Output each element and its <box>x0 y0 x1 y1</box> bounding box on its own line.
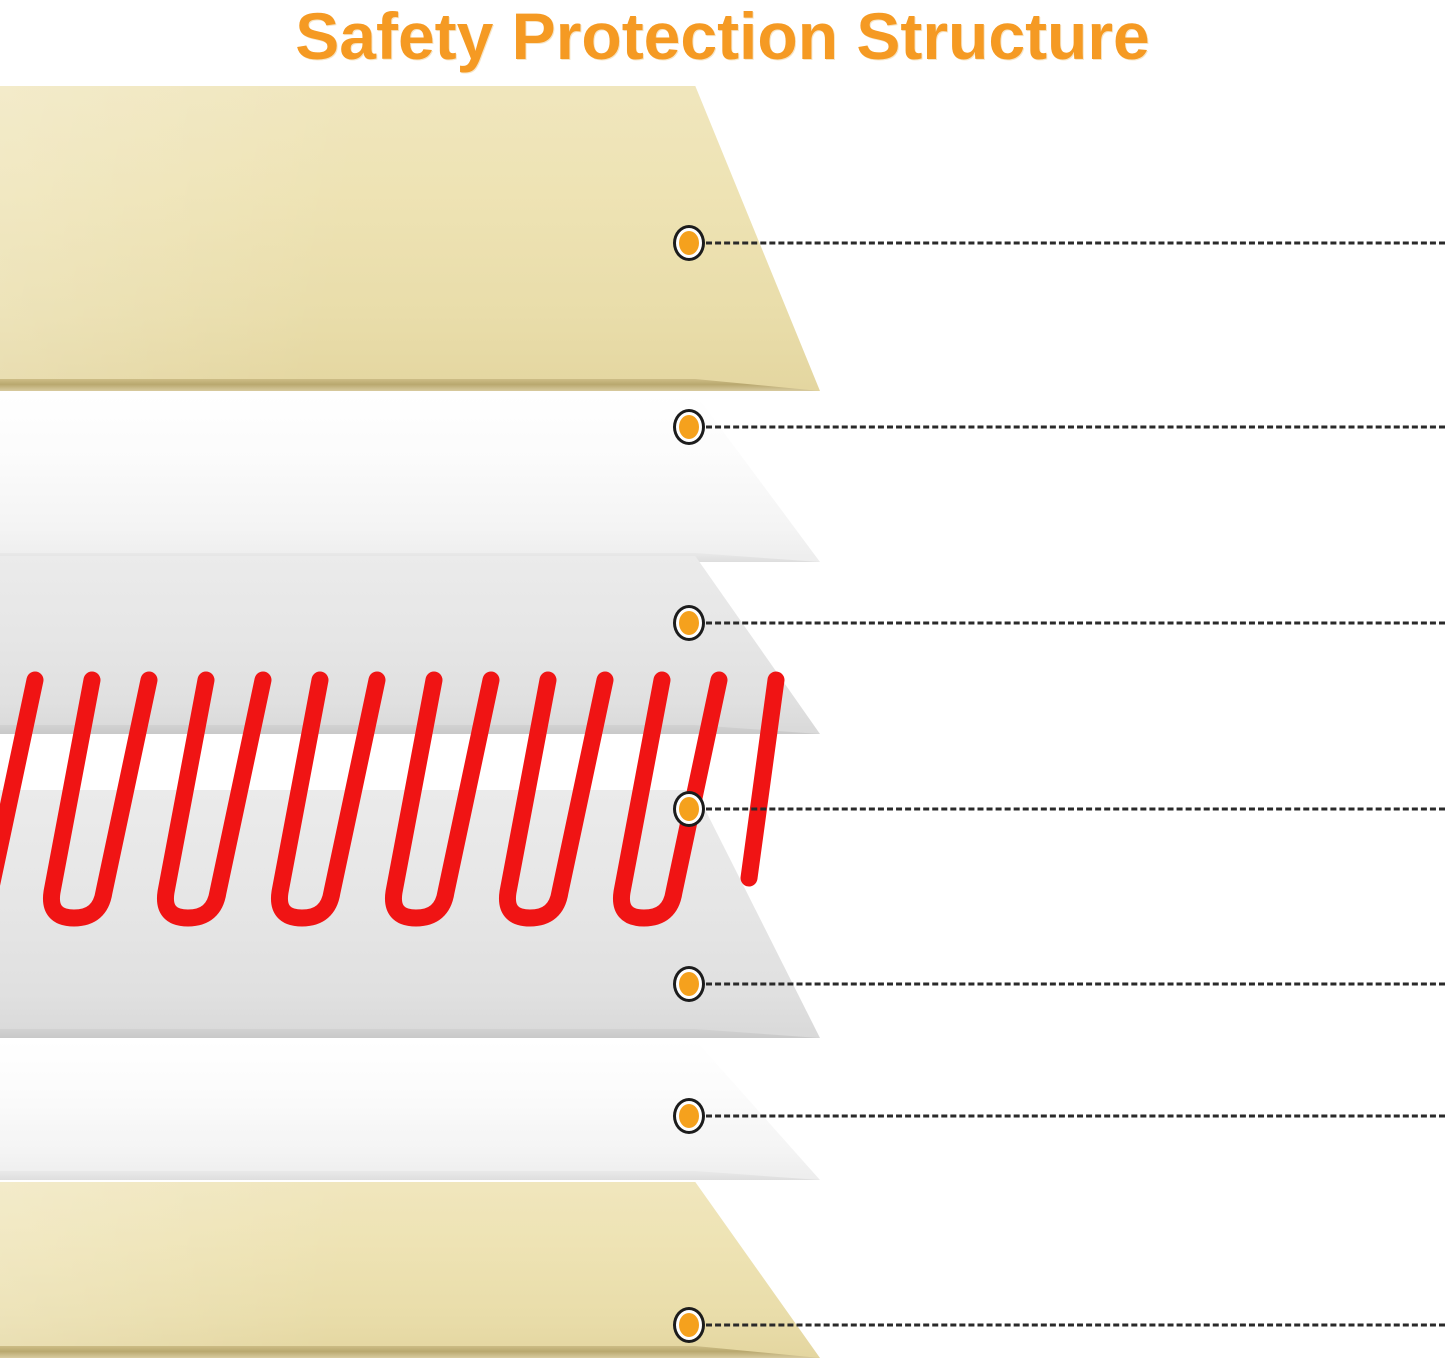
callout-dot-icon <box>676 1310 702 1340</box>
slab-edge <box>0 1029 820 1038</box>
leader-line <box>706 622 1445 625</box>
leader-line <box>706 808 1445 811</box>
callout-dot-icon <box>676 1101 702 1131</box>
leader-line <box>706 1324 1445 1327</box>
callout-dot-icon <box>676 608 702 638</box>
leader-line <box>706 1115 1445 1118</box>
slab-face <box>0 556 820 734</box>
callout-dot-icon <box>676 228 702 258</box>
slab-edge <box>0 379 820 391</box>
slab-edge <box>0 725 820 734</box>
slab-edge <box>0 1171 820 1180</box>
callout-dot-icon <box>676 794 702 824</box>
leader-line <box>706 983 1445 986</box>
layer-knit-bottom <box>0 790 820 1038</box>
callout-dot-icon <box>676 969 702 999</box>
leader-line <box>706 426 1445 429</box>
leader-line <box>706 242 1445 245</box>
slab-surface <box>0 556 820 734</box>
slab-surface <box>0 790 820 1038</box>
slab-face <box>0 790 820 1038</box>
layer-knit-top <box>0 556 820 734</box>
page-title: Safety Protection Structure <box>0 0 1445 76</box>
slab-edge <box>0 1346 820 1358</box>
callout-dot-icon <box>676 412 702 442</box>
infographic-root: Safety Protection Structure <box>0 0 1445 1358</box>
